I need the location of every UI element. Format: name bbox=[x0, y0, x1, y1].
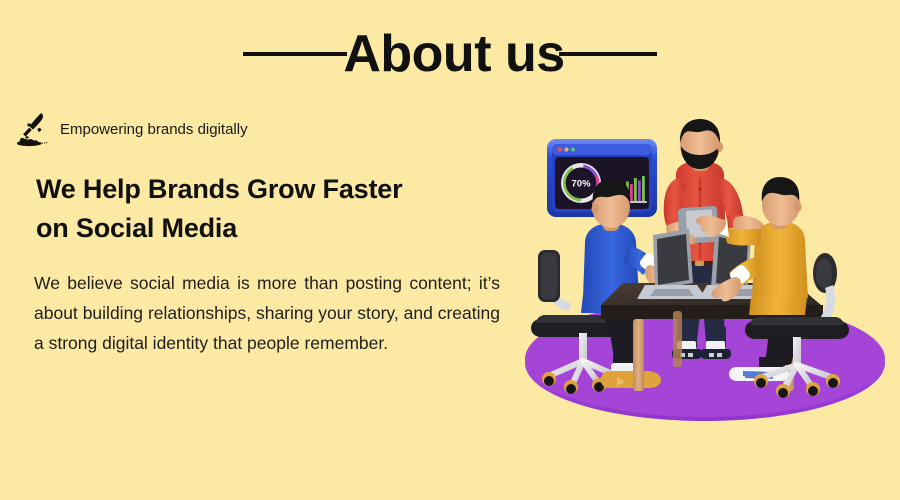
window-dot-yellow bbox=[564, 147, 568, 151]
team-meeting-illustration: 70% bbox=[505, 115, 900, 425]
about-us-slide: About us bbox=[0, 0, 900, 500]
page-title-row: About us bbox=[0, 28, 900, 80]
tagline-text: Empowering brands digitally bbox=[60, 121, 248, 138]
body-paragraph: We believe social media is more than pos… bbox=[0, 268, 512, 358]
headline-line-2: on Social Media bbox=[36, 209, 512, 248]
window-dot-green bbox=[571, 147, 575, 151]
table-leg-left bbox=[633, 319, 644, 391]
title-rule-right bbox=[559, 52, 657, 56]
window-dot-red bbox=[558, 147, 562, 151]
donut-value: 70% bbox=[571, 179, 591, 190]
headline: We Help Brands Grow Faster on Social Med… bbox=[0, 170, 512, 248]
title-rule-left bbox=[243, 52, 347, 56]
tagline: Empowering brands digitally bbox=[0, 110, 512, 148]
seated-left-shoe bbox=[601, 371, 661, 388]
headline-line-1: We Help Brands Grow Faster bbox=[36, 170, 512, 209]
content-column: Empowering brands digitally We Help Bran… bbox=[0, 110, 512, 359]
rocket-launch-icon bbox=[16, 110, 50, 148]
presenter-shoe-right bbox=[701, 349, 731, 359]
page-title: About us bbox=[343, 28, 564, 80]
